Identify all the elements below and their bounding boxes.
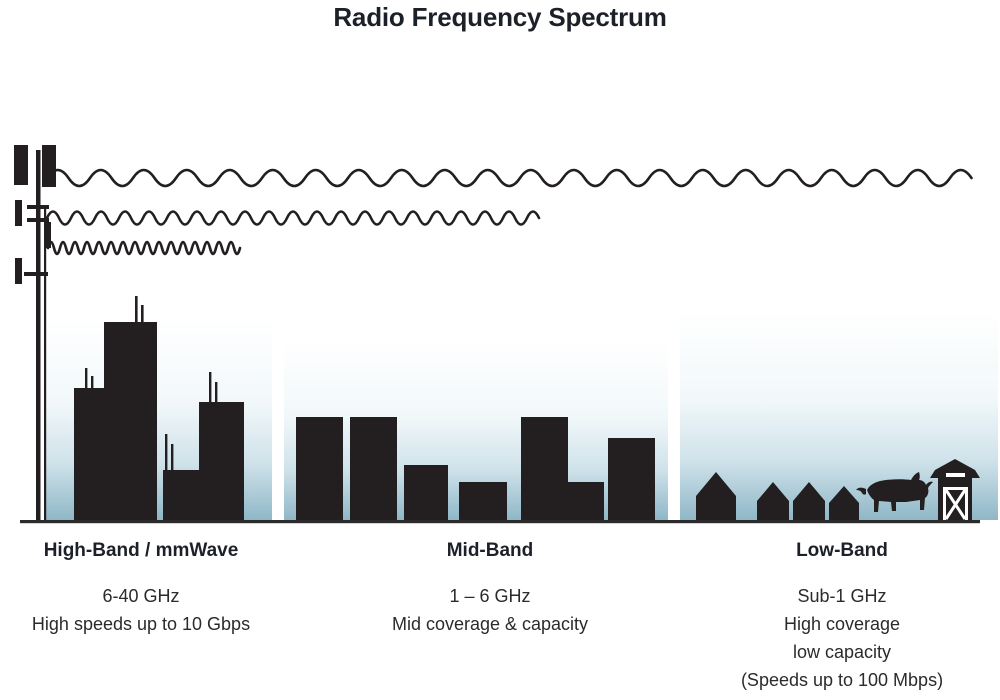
band-title-mid-band: Mid-Band [338,540,642,562]
building [521,417,568,520]
page-title: Radio Frequency Spectrum [0,2,1000,33]
building [199,402,244,520]
spire [171,444,173,472]
building [459,482,507,520]
band-title-low-band: Low-Band [684,540,1000,562]
medium-wavelength-wave [47,212,539,225]
band-caption-mid-band: Mid-Band 1 – 6 GHz Mid coverage & capaci… [338,540,642,638]
spire [209,372,211,404]
building [404,465,448,520]
spectrum-illustration [0,130,1000,530]
band-detail-low-band-2: low capacity [684,638,1000,666]
building [104,322,157,520]
infographic-canvas: Radio Frequency Spectrum [0,0,1000,700]
tower-antenna-panel-mid-right [44,222,51,248]
band-title-high-band: High-Band / mmWave [14,540,268,562]
spectrum-svg [0,130,1000,530]
band-captions: High-Band / mmWave 6-40 GHz High speeds … [0,540,1000,700]
band-frequency-mid-band: 1 – 6 GHz [338,582,642,610]
building [296,417,343,520]
band-frequency-low-band: Sub-1 GHz [684,582,1000,610]
tower-crossarm-lower [24,272,48,276]
band-detail-low-band-1: High coverage [684,610,1000,638]
building [350,417,397,520]
ground-baseline [20,520,980,523]
band-detail-high-band-1: High speeds up to 10 Gbps [14,610,268,638]
tower-crossarm-middle [27,218,49,222]
spire [215,382,217,404]
tower-antenna-panel-mid-left [15,200,22,226]
long-wavelength-wave [47,170,972,186]
band-frequency-high-band: 6-40 GHz [14,582,268,610]
building [568,482,604,520]
tower-antenna-panel-bottom [15,258,22,284]
spire [165,434,167,472]
band-caption-high-band: High-Band / mmWave 6-40 GHz High speeds … [14,540,268,638]
spire [135,296,138,326]
building [608,438,655,520]
band-caption-low-band: Low-Band Sub-1 GHz High coverage low cap… [684,540,1000,694]
band-detail-low-band-3: (Speeds up to 100 Mbps) [684,666,1000,694]
band-detail-mid-band-1: Mid coverage & capacity [338,610,642,638]
short-wavelength-wave [48,242,240,254]
tower-antenna-panel-right [42,145,56,187]
tower-antenna-panel-left [14,145,28,185]
tower-mast-secondary [44,205,46,522]
tower-crossarm-upper [27,205,49,209]
building [163,470,204,520]
